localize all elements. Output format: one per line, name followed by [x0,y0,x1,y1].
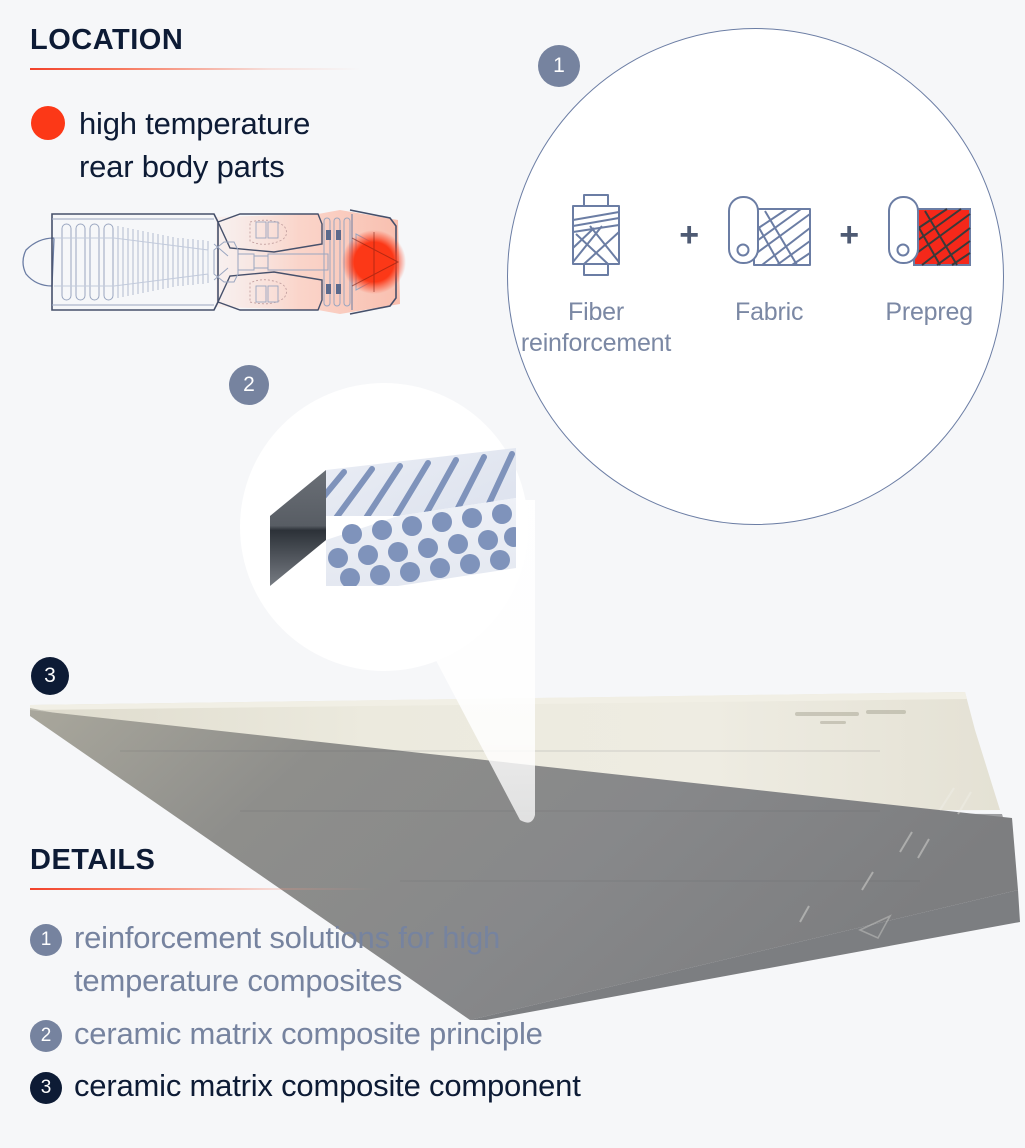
legend-label-line1: high temperature [79,102,419,145]
material-label-fiber: Fiber reinforcement [521,297,671,360]
plus-operator-1: + [671,185,707,285]
detail-badge-2: 2 [30,1020,62,1052]
fiber-label-line1: Fiber [568,298,624,326]
material-item-prepreg: Prepreg [867,185,991,328]
badge-3: 3 [31,657,69,695]
plus-operator-2: + [831,185,867,285]
material-label-fabric: Fabric [735,297,803,328]
fabric-roll-icon [725,185,813,285]
location-heading-rule [30,68,360,70]
fiber-label-line2: reinforcement [521,329,671,357]
legend-label-line2: rear body parts [79,145,419,188]
details-heading: DETAILS [30,846,155,875]
material-item-fiber: Fiber reinforcement [521,185,671,360]
red-dot-icon [31,106,65,140]
detail-badge-1-label: 1 [41,929,52,951]
detail-text-3: ceramic matrix composite component [74,1064,581,1107]
material-item-fabric: Fabric [707,185,831,328]
details-heading-rule [30,888,375,890]
badge-3-label: 3 [44,664,56,688]
location-heading: LOCATION [30,26,183,55]
materials-icon-row: Fiber reinforcement + Fabric [521,185,991,360]
material-label-prepreg: Prepreg [885,297,973,328]
badge-1: 1 [538,45,580,87]
detail-text-2: ceramic matrix composite principle [74,1012,543,1055]
jet-engine-diagram [18,192,418,332]
badge-2: 2 [229,365,269,405]
fiber-spool-icon [564,185,628,285]
detail-item-2: 2 ceramic matrix composite principle [30,1012,730,1055]
cmc-block-illustration [248,448,516,598]
detail-badge-2-label: 2 [41,1025,52,1047]
infographic-page: LOCATION high temperature rear body part… [0,0,1025,1148]
detail-text-1: reinforcement solutions for high tempera… [74,916,634,1003]
details-list: 1 reinforcement solutions for high tempe… [30,916,730,1117]
detail-item-1: 1 reinforcement solutions for high tempe… [30,916,730,1003]
detail-item-3: 3 ceramic matrix composite component [30,1064,730,1107]
badge-1-label: 1 [553,54,565,78]
detail-badge-3: 3 [30,1072,62,1104]
prepreg-roll-icon [885,185,973,285]
location-legend-label: high temperature rear body parts [79,102,419,189]
detail-badge-1: 1 [30,924,62,956]
badge-2-label: 2 [243,373,255,397]
detail-badge-3-label: 3 [41,1077,52,1099]
